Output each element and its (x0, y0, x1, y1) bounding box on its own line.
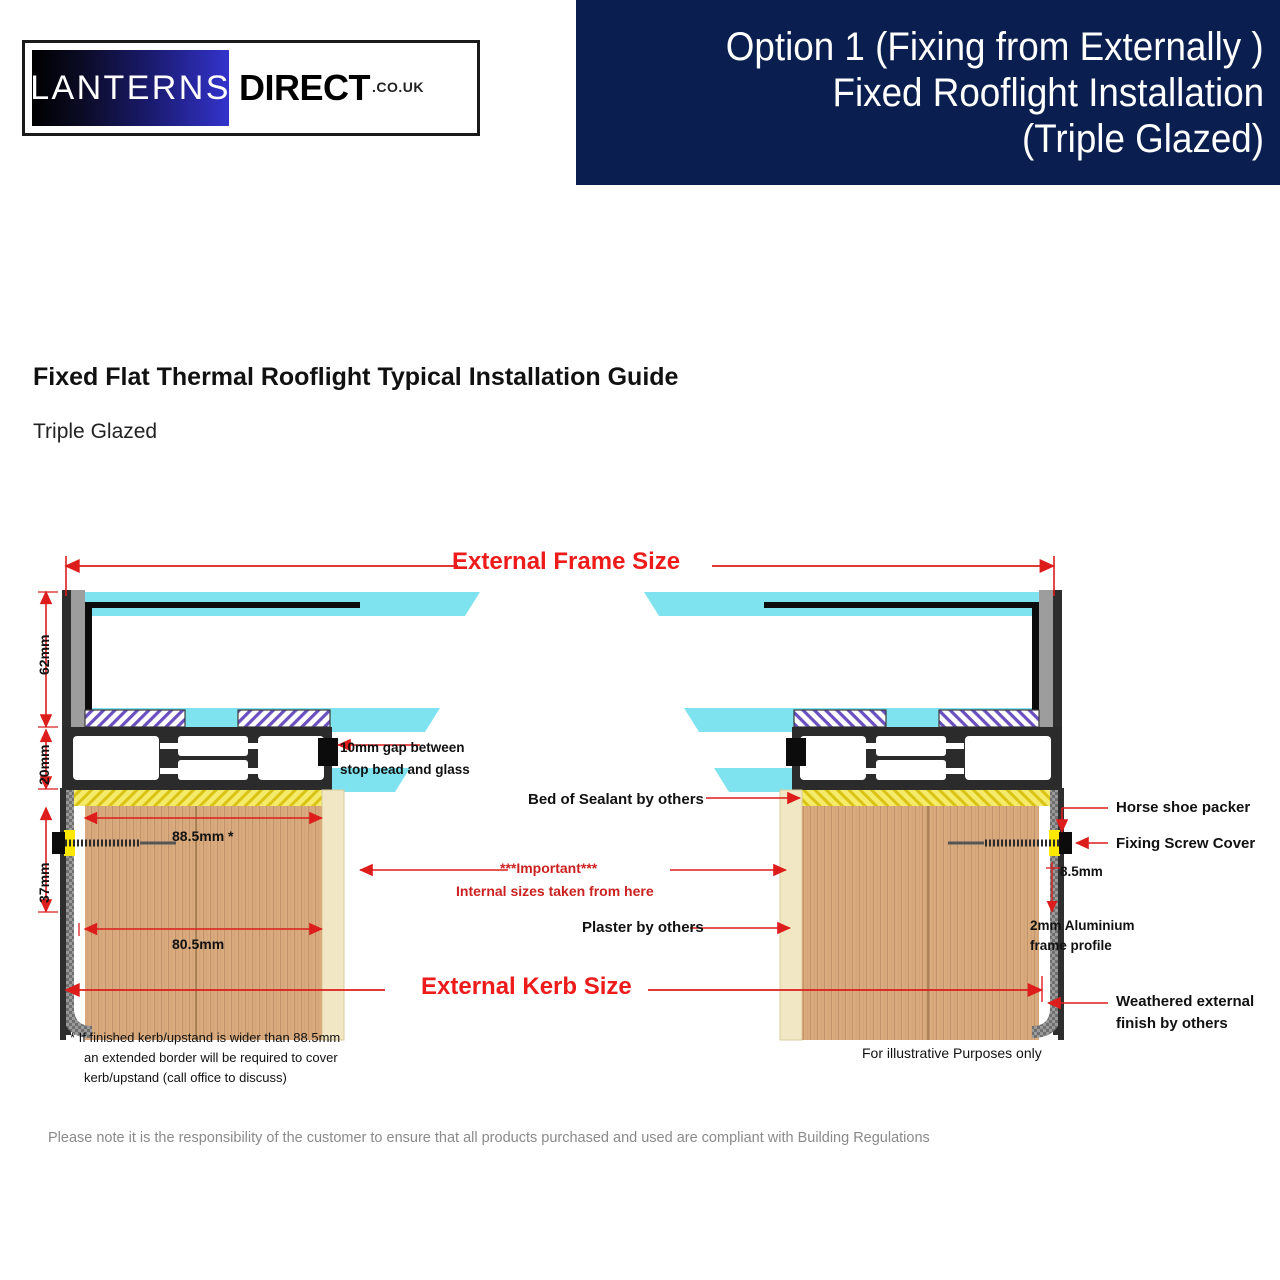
dimension-37mm: 37mm (36, 863, 52, 903)
header-title-line1: Option 1 (Fixing from Externally ) (726, 24, 1264, 70)
building-regulations-disclaimer: Please note it is the responsibility of … (48, 1130, 930, 1146)
fixing-screw-cover-label: Fixing Screw Cover (1116, 834, 1255, 853)
gap-label-line2: stop bead and glass (340, 760, 470, 779)
brand-logo[interactable]: LANTERNS DIRECT .CO.UK (22, 40, 480, 136)
footnote-line2: an extended border will be required to c… (84, 1048, 338, 1068)
logo-direct-text: DIRECT (239, 67, 370, 109)
footnote-line1: * If finished kerb/upstand is wider than… (70, 1028, 340, 1048)
aluminium-profile-label-line2: frame profile (1030, 936, 1112, 955)
external-frame-size-label: External Frame Size (452, 548, 680, 576)
sealant-label: Bed of Sealant by others (528, 790, 704, 809)
external-kerb-size-label: External Kerb Size (421, 973, 632, 1001)
header-title-banner: Option 1 (Fixing from Externally ) Fixed… (576, 0, 1280, 185)
header-title-line2: Fixed Rooflight Installation (832, 70, 1264, 116)
dimension-62mm: 62mm (36, 635, 52, 675)
page-header: Option 1 (Fixing from Externally ) Fixed… (0, 0, 1280, 190)
page-title: Fixed Flat Thermal Rooflight Typical Ins… (33, 363, 678, 392)
logo-lanterns-text: LANTERNS (30, 69, 231, 108)
diagram-graphics (0, 540, 1280, 1100)
dimension-20mm: 20mm (36, 745, 52, 785)
page-subtitle: Triple Glazed (33, 420, 157, 444)
logo-gradient-panel: LANTERNS (32, 50, 229, 126)
weathered-finish-label-line2: finish by others (1116, 1014, 1228, 1033)
important-label-line2: Internal sizes taken from here (456, 883, 654, 899)
horse-shoe-packer-label: Horse shoe packer (1116, 798, 1250, 817)
header-title-line3: (Triple Glazed) (1022, 116, 1264, 162)
installation-cross-section-diagram: External Frame Size External Kerb Size 6… (0, 540, 1280, 1100)
plaster-label: Plaster by others (582, 918, 704, 937)
aluminium-profile-label-line1: 2mm Aluminium (1030, 916, 1135, 935)
illustrative-purposes-note: For illustrative Purposes only (862, 1045, 1042, 1061)
dimension-80-5mm: 80.5mm (172, 936, 224, 952)
dimension-88-5mm: 88.5mm * (172, 828, 233, 844)
right-section-graphic (644, 590, 1072, 1100)
logo-tld-text: .CO.UK (372, 79, 424, 97)
gap-label-line1: 10mm gap between (340, 738, 465, 757)
logo-right-panel: DIRECT .CO.UK (229, 43, 477, 133)
footnote-line3: kerb/upstand (call office to discuss) (84, 1068, 287, 1088)
left-section-graphic (38, 590, 480, 1100)
important-label-line1: ***Important*** (500, 860, 597, 876)
weathered-finish-label-line1: Weathered external (1116, 992, 1254, 1011)
dimension-8-5mm: 8.5mm (1060, 862, 1103, 881)
